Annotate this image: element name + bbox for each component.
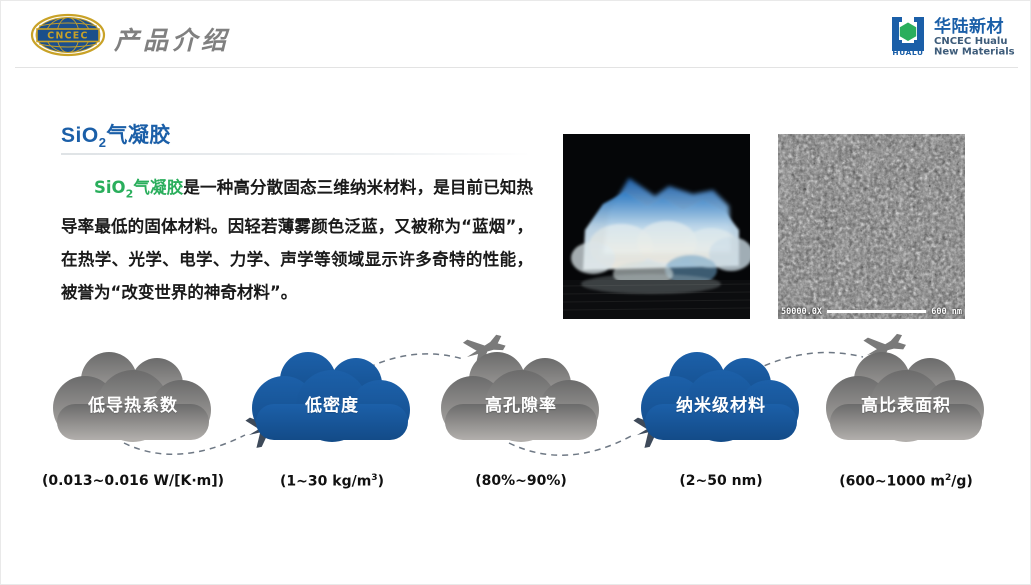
- sem-magnification-label: 50000.0X: [781, 307, 822, 317]
- section-title-prefix: SiO: [61, 124, 99, 147]
- cloud-shape-3: 高孔隙率: [421, 346, 621, 451]
- cloud-label-1: 低导热系数: [33, 391, 233, 416]
- slide-root: CNCEC 产品介绍 HUALU 华陆新材 CNCEC Hualu New Ma…: [0, 0, 1031, 585]
- sem-scale-line: [827, 310, 926, 313]
- cloud-value-5: (600~1000 m2/g): [786, 473, 1026, 490]
- sem-scale-bar: 50000.0X 600 nm: [778, 304, 965, 319]
- aerogel-sample-photo: [563, 134, 750, 319]
- cloud-value-2-pre: (1~30 kg/m: [280, 474, 371, 490]
- cloud-label-5: 高比表面积: [806, 391, 1006, 416]
- cloud-shape-5: 高比表面积: [806, 346, 1006, 451]
- cloud-shape-1: 低导热系数: [33, 346, 233, 451]
- cloud-label-3: 高孔隙率: [421, 391, 621, 416]
- cloud-shape-4: 纳米级材料: [621, 346, 821, 451]
- body-highlight-suffix: 气凝胶: [133, 178, 183, 197]
- cloud-value-2-post: ): [378, 474, 384, 490]
- svg-text:华陆新材: 华陆新材: [934, 16, 1004, 37]
- body-highlight-prefix: SiO: [94, 178, 126, 197]
- svg-text:New Materials: New Materials: [934, 47, 1015, 58]
- slide-header: CNCEC 产品介绍 HUALU 华陆新材 CNCEC Hualu New Ma…: [1, 1, 1030, 67]
- body-paragraph: SiO2气凝胶是一种高分散固态三维纳米材料，是目前已知热导率最低的固体材料。因轻…: [61, 171, 533, 309]
- svg-text:CNCEC: CNCEC: [47, 31, 88, 42]
- property-item-1[interactable]: 低导热系数 (0.013~0.016 W/[K·m]): [33, 331, 233, 506]
- cloud-shape-2: 低密度: [232, 346, 432, 451]
- section-title-underline: [61, 153, 531, 155]
- cncec-hualu-logo: HUALU 华陆新材 CNCEC Hualu New Materials: [888, 11, 1016, 57]
- property-item-5[interactable]: 高比表面积 (600~1000 m2/g): [806, 331, 1006, 506]
- section-title: SiO2气凝胶: [61, 119, 171, 150]
- cloud-value-5-post: /g): [951, 474, 973, 490]
- svg-text:CNCEC Hualu: CNCEC Hualu: [934, 36, 1007, 47]
- sem-scale-length-label: 600 nm: [931, 307, 962, 317]
- sem-texture: [778, 134, 965, 319]
- properties-cloud-row: 低导热系数 (0.013~0.016 W/[K·m]) 低: [1, 331, 1030, 506]
- cncec-globe-logo: CNCEC: [25, 13, 111, 57]
- cloud-label-4: 纳米级材料: [621, 391, 821, 416]
- svg-text:HUALU: HUALU: [892, 48, 923, 57]
- property-item-3[interactable]: 高孔隙率 (80%~90%): [421, 331, 621, 506]
- aerogel-sem-photo: 50000.0X 600 nm: [778, 134, 965, 319]
- cloud-value-5-pre: (600~1000 m: [839, 474, 945, 490]
- section-title-suffix: 气凝胶: [106, 124, 171, 147]
- header-divider: [15, 67, 1018, 68]
- page-title: 产品介绍: [114, 21, 230, 57]
- cloud-label-2: 低密度: [232, 391, 432, 416]
